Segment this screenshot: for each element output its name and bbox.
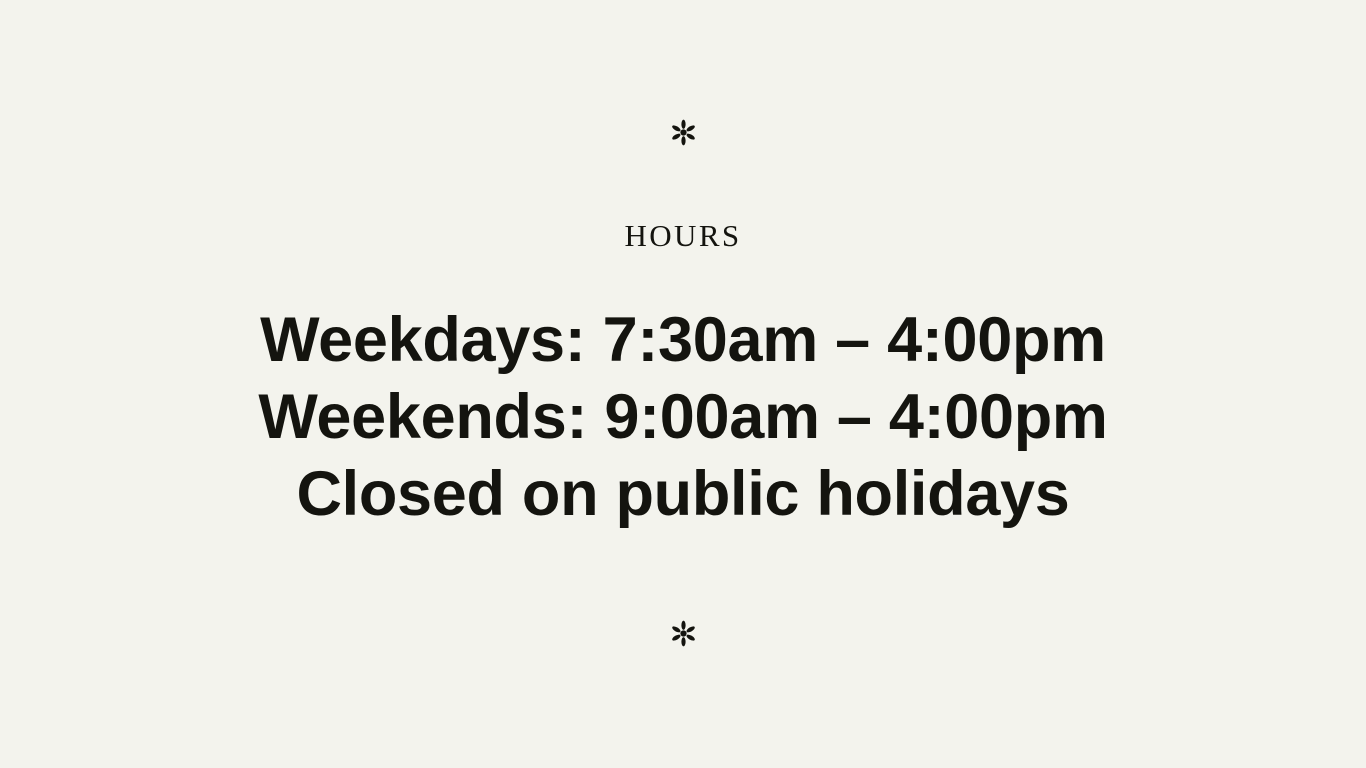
hours-line-weekdays: Weekdays: 7:30am – 4:00pm <box>258 302 1107 379</box>
section-label-hours: HOURS <box>624 220 741 251</box>
hours-card: HOURS Weekdays: 7:30am – 4:00pm Weekends… <box>0 0 1366 768</box>
hours-line-holidays: Closed on public holidays <box>258 456 1107 533</box>
hours-lines: Weekdays: 7:30am – 4:00pm Weekends: 9:00… <box>258 302 1107 533</box>
six-petal-asterisk-flower-icon <box>669 619 698 648</box>
hours-line-weekends: Weekends: 9:00am – 4:00pm <box>258 379 1107 456</box>
six-petal-asterisk-flower-icon <box>669 118 698 147</box>
